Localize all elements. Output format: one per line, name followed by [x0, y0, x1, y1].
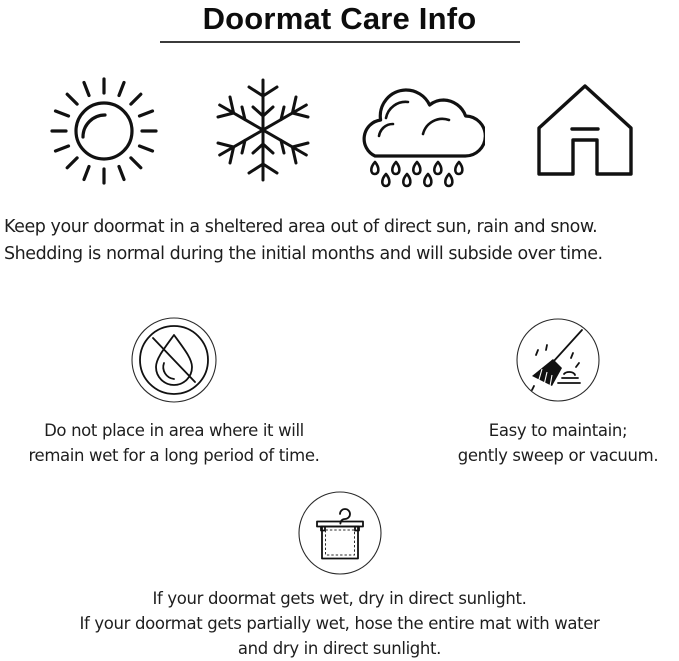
weather-icon-row [0, 74, 679, 194]
dry-line-2: If your doormat gets partially wet, hose… [0, 611, 679, 636]
intro-paragraph: Keep your doormat in a sheltered area ou… [0, 214, 679, 268]
panel-dry-in-sunlight: If your doormat gets wet, dry in direct … [0, 488, 679, 661]
easy-maintain-caption: Easy to maintain; gently sweep or vacuum… [408, 418, 679, 468]
dry-line-1: If your doormat gets wet, dry in direct … [0, 586, 679, 611]
easy-maintain-line-1: Easy to maintain; [408, 418, 679, 443]
easy-maintain-line-2: gently sweep or vacuum. [408, 443, 679, 468]
house-icon [520, 74, 650, 194]
page-title: Doormat Care Info [0, 0, 679, 36]
panel-easy-maintain: Easy to maintain; gently sweep or vacuum… [408, 314, 679, 468]
hang-to-dry-icon [0, 488, 679, 578]
sun-icon [39, 74, 169, 194]
snowflake-icon [198, 74, 328, 194]
panel-no-standing-water: Do not place in area where it will remai… [24, 314, 324, 468]
broom-icon [408, 314, 679, 406]
no-water-icon [24, 314, 324, 406]
intro-line-2: Shedding is normal during the initial mo… [4, 241, 679, 268]
intro-line-1: Keep your doormat in a sheltered area ou… [4, 214, 679, 241]
dry-in-sunlight-caption: If your doormat gets wet, dry in direct … [0, 586, 679, 661]
rain-cloud-icon [355, 74, 485, 194]
no-water-line-1: Do not place in area where it will [24, 418, 324, 443]
dry-line-3: and dry in direct sunlight. [0, 636, 679, 661]
page-title-block: Doormat Care Info [0, 0, 679, 43]
no-water-line-2: remain wet for a long period of time. [24, 443, 324, 468]
no-water-caption: Do not place in area where it will remai… [24, 418, 324, 468]
title-underline-rule [160, 41, 520, 43]
